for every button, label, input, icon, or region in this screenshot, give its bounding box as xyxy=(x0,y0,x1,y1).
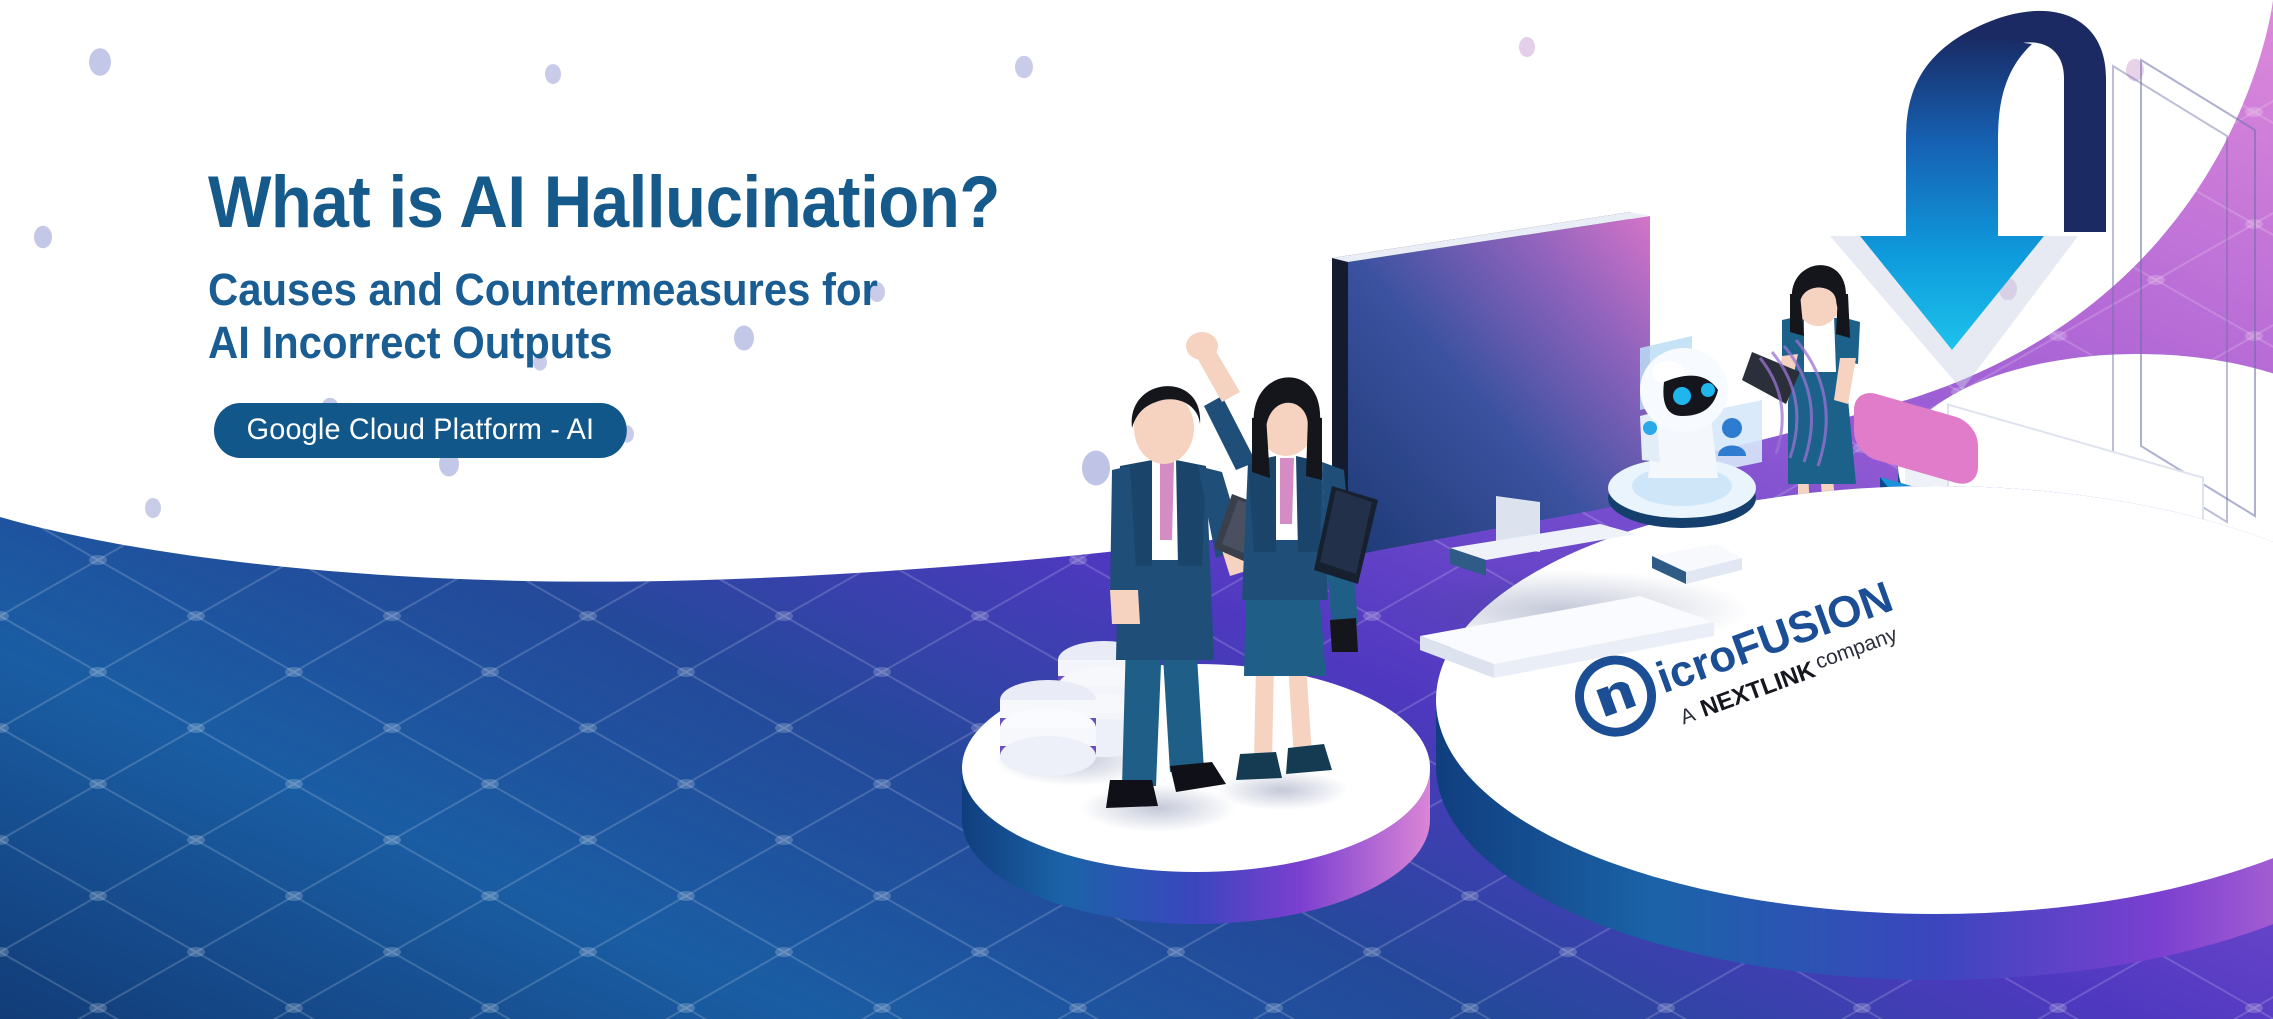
hero-text-block: What is AI Hallucination? Causes and Cou… xyxy=(208,165,1208,458)
subtitle-line-2: AI Incorrect Outputs xyxy=(208,316,1138,369)
category-badge[interactable]: Google Cloud Platform - AI xyxy=(214,403,627,458)
page-title: What is AI Hallucination? xyxy=(208,165,1128,241)
center-platform-disc xyxy=(1436,486,2273,980)
download-arrow xyxy=(1830,11,2106,390)
subtitle-line-1: Causes and Countermeasures for xyxy=(208,263,1138,316)
page-subtitle: Causes and Countermeasures for AI Incorr… xyxy=(208,263,1138,369)
hero-banner: icroFUSION A NEXTLINK company xyxy=(0,0,2273,1019)
isometric-illustration: icroFUSION A NEXTLINK company xyxy=(0,0,2273,1019)
